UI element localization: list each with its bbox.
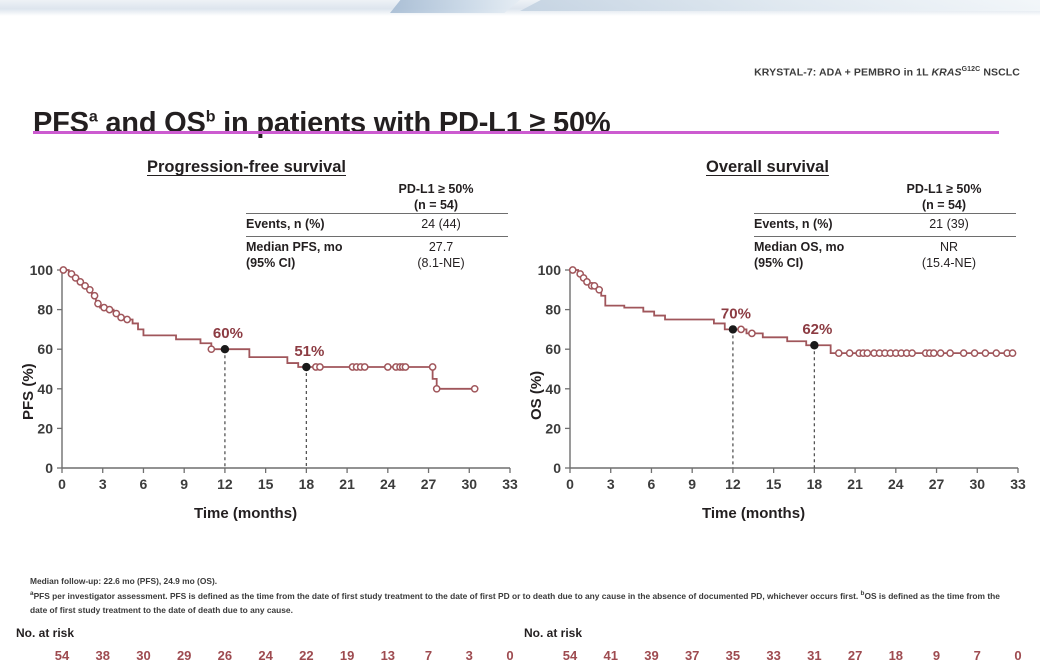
svg-text:60%: 60%	[213, 325, 243, 342]
svg-text:100: 100	[538, 262, 562, 278]
stats-col-header-line1: PD-L1 ≥ 50%	[364, 182, 508, 198]
svg-text:6: 6	[140, 476, 148, 492]
risk-count: 7	[974, 648, 981, 663]
svg-text:3: 3	[99, 476, 107, 492]
svg-text:0: 0	[58, 476, 66, 492]
risk-count: 18	[889, 648, 903, 663]
x-axis-label-pfs: Time (months)	[194, 505, 297, 522]
svg-text:33: 33	[502, 476, 518, 492]
stats-row-label-line1: Median OS, mo	[754, 240, 882, 256]
footnote-definitions: aPFS per investigator assessment. PFS is…	[30, 589, 1005, 618]
svg-text:70%: 70%	[721, 305, 751, 322]
risk-count: 35	[726, 648, 740, 663]
svg-text:33: 33	[1010, 476, 1026, 492]
stats-table-header-pfs: PD-L1 ≥ 50% (n = 54)	[246, 182, 508, 213]
risk-count: 30	[136, 648, 150, 663]
stats-row-value-line1: NR	[882, 240, 1016, 256]
risk-count: 27	[848, 648, 862, 663]
risk-count: 26	[218, 648, 232, 663]
stats-row-value: 21 (39)	[882, 217, 1016, 233]
gene-name: KRAS	[931, 67, 961, 79]
svg-text:12: 12	[217, 476, 233, 492]
km-curve-svg-os: 0369121518212427303302040608010070%62%	[522, 260, 1030, 510]
svg-text:0: 0	[553, 460, 561, 476]
table-row: Events, n (%) 21 (39)	[754, 213, 1016, 236]
stats-row-value-line1: 27.7	[374, 240, 508, 256]
footnotes: Median follow-up: 22.6 mo (PFS), 24.9 mo…	[30, 575, 1005, 617]
svg-text:0: 0	[566, 476, 574, 492]
risk-count: 9	[933, 648, 940, 663]
svg-text:30: 30	[969, 476, 985, 492]
title-footnote-marker-a: a	[89, 109, 98, 126]
svg-text:21: 21	[339, 476, 355, 492]
panel-title-os: Overall survival	[706, 158, 829, 177]
banner-shape-right	[520, 0, 1040, 11]
footnote-median-followup: Median follow-up: 22.6 mo (PFS), 24.9 mo…	[30, 575, 1005, 589]
y-axis-label-pfs: PFS (%)	[20, 363, 37, 420]
risk-count: 54	[563, 648, 577, 663]
svg-text:27: 27	[421, 476, 437, 492]
study-identifier: KRYSTAL-7: ADA + PEMBRO in 1L KRASG12C N…	[754, 66, 1020, 79]
svg-text:6: 6	[648, 476, 656, 492]
svg-text:18: 18	[807, 476, 823, 492]
risk-table-row-pfs: 543830292624221913730	[14, 648, 522, 666]
title-part-and-os: and OS	[98, 107, 206, 139]
svg-text:18: 18	[299, 476, 315, 492]
svg-text:15: 15	[258, 476, 274, 492]
risk-count: 13	[381, 648, 395, 663]
svg-text:51%: 51%	[294, 343, 324, 360]
stats-row-label-line1: Median PFS, mo	[246, 240, 374, 256]
title-footnote-marker-b: b	[206, 109, 216, 126]
risk-count: 29	[177, 648, 191, 663]
risk-table-row-os: 544139373533312718970	[522, 648, 1030, 666]
svg-text:100: 100	[30, 262, 54, 278]
stats-row-label: Events, n (%)	[754, 217, 882, 233]
risk-count: 0	[1014, 648, 1021, 663]
x-axis-label-os: Time (months)	[702, 505, 805, 522]
stats-col-header-line2: (n = 54)	[364, 198, 508, 214]
study-suffix: NSCLC	[980, 67, 1020, 79]
risk-count: 41	[603, 648, 617, 663]
svg-text:40: 40	[545, 381, 561, 397]
svg-text:62%: 62%	[802, 321, 832, 338]
study-prefix: KRYSTAL-7: ADA + PEMBRO in 1L	[754, 67, 931, 79]
risk-count: 24	[258, 648, 272, 663]
svg-text:60: 60	[545, 341, 561, 357]
gene-variant-superscript: G12C	[962, 66, 981, 73]
risk-count: 0	[506, 648, 513, 663]
svg-text:30: 30	[461, 476, 477, 492]
svg-text:9: 9	[688, 476, 696, 492]
svg-text:24: 24	[380, 476, 396, 492]
title-part-tail: in patients with PD-L1 ≥ 50%	[215, 107, 610, 139]
table-row: Events, n (%) 24 (44)	[246, 213, 508, 236]
svg-text:12: 12	[725, 476, 741, 492]
risk-count: 31	[807, 648, 821, 663]
svg-text:80: 80	[37, 302, 53, 318]
km-curve-svg-pfs: 0369121518212427303302040608010060%51%	[14, 260, 522, 510]
panel-title-pfs: Progression-free survival	[147, 158, 346, 177]
risk-count: 33	[766, 648, 780, 663]
stats-row-value: 24 (44)	[374, 217, 508, 233]
banner-shape-left	[390, 0, 520, 13]
risk-count: 54	[55, 648, 69, 663]
svg-text:20: 20	[545, 420, 561, 436]
svg-text:3: 3	[607, 476, 615, 492]
svg-text:0: 0	[45, 460, 53, 476]
title-accent-rule	[33, 131, 999, 134]
risk-count: 3	[466, 648, 473, 663]
svg-text:20: 20	[37, 420, 53, 436]
stats-table-header-os: PD-L1 ≥ 50% (n = 54)	[754, 182, 1016, 213]
risk-count: 39	[644, 648, 658, 663]
top-decorative-banner	[0, 0, 1040, 16]
svg-text:80: 80	[545, 302, 561, 318]
risk-count: 38	[95, 648, 109, 663]
stats-col-header-line2: (n = 54)	[872, 198, 1016, 214]
svg-text:21: 21	[847, 476, 863, 492]
footnote-text-a: PFS per investigator assessment. PFS is …	[34, 591, 861, 601]
title-part-pfs: PFS	[33, 107, 89, 139]
page-title: PFSa and OSb in patients with PD-L1 ≥ 50…	[33, 107, 611, 140]
y-axis-label-os: OS (%)	[528, 371, 545, 420]
svg-text:15: 15	[766, 476, 782, 492]
stats-col-header-line1: PD-L1 ≥ 50%	[872, 182, 1016, 198]
svg-text:9: 9	[180, 476, 188, 492]
risk-count: 7	[425, 648, 432, 663]
svg-text:60: 60	[37, 341, 53, 357]
svg-text:27: 27	[929, 476, 945, 492]
svg-text:24: 24	[888, 476, 904, 492]
stats-row-label: Events, n (%)	[246, 217, 374, 233]
risk-count: 37	[685, 648, 699, 663]
svg-text:40: 40	[37, 381, 53, 397]
risk-count: 19	[340, 648, 354, 663]
risk-count: 22	[299, 648, 313, 663]
